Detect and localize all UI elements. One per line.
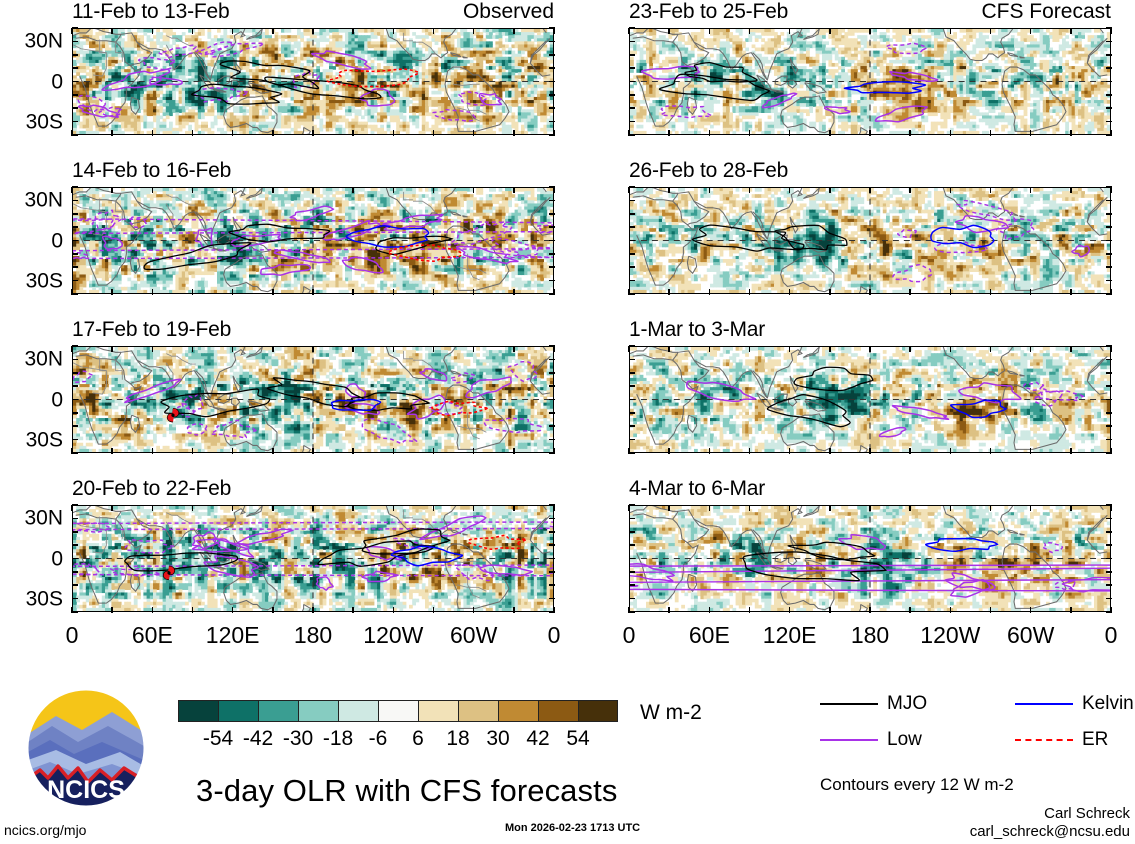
axis-tick	[473, 346, 475, 352]
axis-tick	[829, 505, 831, 511]
axis-tick	[1106, 558, 1112, 560]
axis-tick	[1106, 399, 1112, 401]
axis-tick	[549, 611, 555, 613]
axis-tick	[72, 200, 78, 202]
axis-tick	[352, 28, 354, 34]
axis-tick	[1070, 289, 1072, 295]
axis-tick	[990, 289, 992, 295]
colorbar-segment	[258, 700, 298, 722]
y-axis-label: 30S	[26, 588, 63, 609]
axis-tick	[629, 399, 635, 401]
axis-tick	[152, 130, 154, 136]
axis-tick	[1106, 240, 1112, 242]
colorbar-segment	[378, 700, 418, 722]
axis-tick	[629, 544, 635, 546]
axis-tick	[549, 27, 555, 29]
axis-tick	[352, 448, 354, 454]
axis-tick	[668, 607, 670, 613]
map-panel-forecast-2: 26-Feb to 28-Feb	[629, 187, 1111, 294]
axis-tick	[668, 505, 670, 511]
axis-tick	[312, 607, 314, 613]
axis-tick	[629, 452, 635, 454]
axis-tick	[352, 130, 354, 136]
axis-tick	[111, 289, 113, 295]
axis-tick	[393, 505, 395, 511]
axis-tick	[549, 359, 555, 361]
axis-tick	[1070, 448, 1072, 454]
axis-tick	[629, 94, 635, 96]
axis-tick	[549, 107, 555, 109]
axis-tick	[629, 372, 635, 374]
axis-tick	[72, 504, 78, 506]
axis-tick	[549, 280, 555, 282]
axis-tick	[789, 346, 791, 352]
axis-tick	[111, 130, 113, 136]
axis-tick	[709, 448, 711, 454]
ncics-logo: NCICS	[16, 686, 156, 819]
axis-tick	[549, 266, 555, 268]
axis-tick	[232, 505, 234, 511]
axis-tick	[1106, 107, 1112, 109]
axis-tick	[1106, 253, 1112, 255]
axis-tick	[152, 505, 154, 511]
axis-tick	[950, 289, 952, 295]
axis-tick	[192, 607, 194, 613]
timestamp-text: Mon 2026-02-23 1713 UTC	[505, 823, 640, 834]
axis-tick	[549, 385, 555, 387]
axis-tick	[709, 187, 711, 193]
axis-tick	[192, 289, 194, 295]
axis-tick	[629, 107, 635, 109]
axis-tick	[513, 289, 515, 295]
colorbar-tick-label: 42	[526, 728, 549, 749]
x-axis-label: 120E	[763, 624, 817, 647]
axis-tick	[72, 412, 78, 414]
axis-tick	[789, 289, 791, 295]
axis-tick	[1106, 385, 1112, 387]
axis-tick	[909, 187, 911, 193]
axis-tick	[473, 448, 475, 454]
axis-tick	[990, 130, 992, 136]
axis-tick	[232, 130, 234, 136]
axis-tick	[352, 289, 354, 295]
map-image	[629, 28, 1111, 135]
axis-tick	[1070, 28, 1072, 34]
axis-tick	[72, 558, 78, 560]
axis-tick	[473, 130, 475, 136]
map-image	[72, 28, 554, 135]
axis-tick	[629, 439, 635, 441]
axis-tick	[629, 584, 635, 586]
axis-tick	[513, 187, 515, 193]
axis-tick	[1030, 607, 1032, 613]
x-axis-label: 180	[851, 624, 889, 647]
axis-tick	[393, 28, 395, 34]
axis-tick	[1106, 226, 1112, 228]
axis-tick	[869, 448, 871, 454]
axis-tick	[549, 345, 555, 347]
colorbar-tick-label: -54	[203, 728, 233, 749]
axis-tick	[549, 584, 555, 586]
contour-legend: MJOKelvin x2LowER	[820, 694, 1135, 766]
axis-tick	[950, 187, 952, 193]
x-axis-labels-observed: 060E120E180120W60W0	[72, 624, 554, 650]
axis-tick	[513, 346, 515, 352]
legend-item-er: ER	[1015, 730, 1108, 749]
ncics-logo-text: NCICS	[47, 776, 125, 804]
x-axis-label: 60W	[1007, 624, 1054, 647]
axis-tick	[1106, 412, 1112, 414]
axis-tick	[709, 607, 711, 613]
axis-tick	[549, 558, 555, 560]
y-axis-label: 30S	[26, 111, 63, 132]
axis-tick	[1106, 266, 1112, 268]
y-axis-label: 30S	[26, 270, 63, 291]
axis-tick	[1106, 571, 1112, 573]
x-axis-label: 60W	[450, 624, 497, 647]
colorbar-segment	[338, 700, 378, 722]
legend-item-mjo: MJO	[820, 694, 927, 713]
axis-tick	[1070, 505, 1072, 511]
axis-tick	[909, 346, 911, 352]
axis-tick	[629, 280, 635, 282]
axis-tick	[990, 346, 992, 352]
axis-tick	[1106, 200, 1112, 202]
legend-label: ER	[1082, 730, 1108, 749]
axis-tick	[869, 28, 871, 34]
axis-tick	[789, 187, 791, 193]
panel-title: 1-Mar to 3-Mar	[629, 319, 765, 340]
axis-tick	[629, 611, 635, 613]
map-panel-forecast-3: 1-Mar to 3-Mar	[629, 346, 1111, 453]
axis-tick	[749, 130, 751, 136]
axis-tick	[549, 598, 555, 600]
axis-tick	[192, 505, 194, 511]
axis-tick	[1070, 607, 1072, 613]
axis-tick	[789, 130, 791, 136]
legend-line-swatch	[1015, 739, 1073, 741]
axis-tick	[990, 448, 992, 454]
axis-tick	[869, 346, 871, 352]
legend-line-swatch	[820, 703, 878, 705]
axis-tick	[990, 28, 992, 34]
axis-tick	[473, 28, 475, 34]
axis-tick	[72, 531, 78, 533]
axis-tick	[909, 130, 911, 136]
axis-tick	[629, 266, 635, 268]
axis-tick	[1106, 293, 1112, 295]
axis-tick	[393, 448, 395, 454]
panel-title: 26-Feb to 28-Feb	[629, 160, 788, 181]
axis-tick	[629, 359, 635, 361]
axis-tick	[232, 187, 234, 193]
axis-tick	[72, 584, 78, 586]
axis-tick	[192, 346, 194, 352]
axis-tick	[111, 448, 113, 454]
axis-tick	[1106, 531, 1112, 533]
axis-tick	[232, 28, 234, 34]
axis-tick	[629, 213, 635, 215]
axis-tick	[72, 452, 78, 454]
y-axis-label: 30S	[26, 429, 63, 450]
axis-tick	[1030, 187, 1032, 193]
axis-tick	[829, 448, 831, 454]
axis-tick	[829, 289, 831, 295]
axis-tick	[1106, 425, 1112, 427]
colorbar-tick-label: -6	[369, 728, 388, 749]
axis-tick	[272, 607, 274, 613]
panel-title: 4-Mar to 6-Mar	[629, 478, 765, 499]
axis-tick	[709, 289, 711, 295]
axis-tick	[312, 346, 314, 352]
x-axis-label: 60E	[689, 624, 730, 647]
axis-tick	[1106, 81, 1112, 83]
axis-tick	[1106, 54, 1112, 56]
axis-tick	[72, 67, 78, 69]
axis-tick	[629, 412, 635, 414]
axis-tick	[232, 289, 234, 295]
map-panel-forecast-4: 4-Mar to 6-Mar	[629, 505, 1111, 612]
axis-tick	[111, 607, 113, 613]
axis-tick	[549, 121, 555, 123]
axis-tick	[869, 130, 871, 136]
axis-tick	[473, 187, 475, 193]
axis-tick	[549, 81, 555, 83]
axis-tick	[72, 372, 78, 374]
axis-tick	[433, 187, 435, 193]
axis-tick	[629, 293, 635, 295]
axis-tick	[1106, 186, 1112, 188]
axis-tick	[629, 121, 635, 123]
axis-tick	[1030, 130, 1032, 136]
axis-tick	[1106, 27, 1112, 29]
axis-tick	[1106, 611, 1112, 613]
axis-tick	[549, 439, 555, 441]
map-panel-observed-3: 17-Feb to 19-Feb30N030S	[72, 346, 554, 453]
axis-tick	[473, 289, 475, 295]
axis-tick	[950, 505, 952, 511]
axis-tick	[513, 607, 515, 613]
axis-tick	[1106, 452, 1112, 454]
panel-title: 14-Feb to 16-Feb	[72, 160, 231, 181]
axis-tick	[990, 187, 992, 193]
colorbar-tick-label: 54	[566, 728, 589, 749]
axis-tick	[1106, 504, 1112, 506]
map-panel-observed-2: 14-Feb to 16-Feb30N030S	[72, 187, 554, 294]
colorbar-tick-label: 30	[486, 728, 509, 749]
y-axis-label: 0	[51, 71, 63, 92]
axis-tick	[950, 28, 952, 34]
axis-tick	[549, 213, 555, 215]
axis-tick	[72, 27, 78, 29]
axis-tick	[549, 412, 555, 414]
axis-tick	[549, 425, 555, 427]
author-name: Carl Schreck	[905, 806, 1130, 821]
axis-tick	[549, 41, 555, 43]
axis-tick	[629, 345, 635, 347]
panel-title: 20-Feb to 22-Feb	[72, 478, 231, 499]
axis-tick	[629, 27, 635, 29]
axis-tick	[829, 607, 831, 613]
axis-tick	[393, 187, 395, 193]
axis-tick	[629, 558, 635, 560]
axis-tick	[789, 607, 791, 613]
axis-tick	[629, 385, 635, 387]
x-axis-label: 0	[1105, 624, 1118, 647]
axis-tick	[869, 187, 871, 193]
x-axis-label: 60E	[132, 624, 173, 647]
axis-tick	[72, 41, 78, 43]
axis-tick	[629, 226, 635, 228]
axis-tick	[473, 607, 475, 613]
colorbar-tick-label: -42	[243, 728, 273, 749]
axis-tick	[111, 346, 113, 352]
axis-tick	[111, 28, 113, 34]
column-header-observed: Observed	[463, 1, 554, 22]
x-axis-label: 120W	[920, 624, 980, 647]
axis-tick	[629, 41, 635, 43]
axis-tick	[950, 607, 952, 613]
colorbar-segment	[178, 700, 218, 722]
map-image	[72, 187, 554, 294]
y-axis-label: 0	[51, 548, 63, 569]
colorbar-tick-label: 6	[412, 728, 424, 749]
colorbar-segment	[578, 700, 618, 722]
colorbar-segment	[298, 700, 338, 722]
axis-tick	[272, 448, 274, 454]
axis-tick	[72, 518, 78, 520]
axis-tick	[1106, 359, 1112, 361]
axis-tick	[232, 346, 234, 352]
axis-tick	[1106, 518, 1112, 520]
axis-tick	[950, 448, 952, 454]
axis-tick	[629, 200, 635, 202]
y-axis-label: 30N	[24, 190, 63, 211]
axis-tick	[232, 448, 234, 454]
axis-tick	[473, 505, 475, 511]
axis-tick	[72, 598, 78, 600]
axis-tick	[352, 607, 354, 613]
axis-tick	[1106, 41, 1112, 43]
axis-tick	[72, 399, 78, 401]
column-header-forecast: CFS Forecast	[981, 1, 1111, 22]
axis-tick	[909, 289, 911, 295]
x-axis-label: 0	[548, 624, 561, 647]
axis-tick	[72, 186, 78, 188]
x-axis-label: 120W	[363, 624, 423, 647]
author-email: carl_schreck@ncsu.edu	[905, 824, 1130, 839]
axis-tick	[549, 372, 555, 374]
axis-tick	[272, 289, 274, 295]
colorbar-tick-label: 18	[446, 728, 469, 749]
axis-tick	[312, 448, 314, 454]
axis-tick	[152, 346, 154, 352]
axis-tick	[549, 399, 555, 401]
axis-tick	[192, 28, 194, 34]
axis-tick	[1106, 598, 1112, 600]
axis-tick	[192, 130, 194, 136]
axis-tick	[72, 611, 78, 613]
axis-tick	[1070, 130, 1072, 136]
axis-tick	[549, 253, 555, 255]
axis-tick	[709, 505, 711, 511]
axis-tick	[72, 253, 78, 255]
axis-tick	[393, 607, 395, 613]
axis-tick	[72, 385, 78, 387]
axis-tick	[433, 607, 435, 613]
x-axis-label: 0	[66, 624, 79, 647]
axis-tick	[950, 346, 952, 352]
axis-tick	[950, 130, 952, 136]
colorbar-segment	[458, 700, 498, 722]
legend-label: Kelvin x2	[1082, 694, 1135, 713]
axis-tick	[668, 130, 670, 136]
axis-tick	[272, 130, 274, 136]
axis-tick	[668, 187, 670, 193]
axis-tick	[629, 504, 635, 506]
axis-tick	[549, 226, 555, 228]
map-panel-observed-4: 20-Feb to 22-Feb30N030S	[72, 505, 554, 612]
axis-tick	[433, 289, 435, 295]
axis-tick	[668, 28, 670, 34]
axis-tick	[393, 346, 395, 352]
axis-tick	[513, 130, 515, 136]
x-axis-labels-forecast: 060E120E180120W60W0	[629, 624, 1111, 650]
axis-tick	[629, 186, 635, 188]
axis-tick	[513, 505, 515, 511]
legend-line-swatch	[820, 739, 878, 741]
axis-tick	[1106, 280, 1112, 282]
axis-tick	[312, 28, 314, 34]
axis-tick	[549, 531, 555, 533]
axis-tick	[72, 544, 78, 546]
axis-tick	[990, 607, 992, 613]
axis-tick	[72, 345, 78, 347]
axis-tick	[312, 187, 314, 193]
legend-label: MJO	[887, 694, 927, 713]
axis-tick	[1106, 121, 1112, 123]
axis-tick	[111, 187, 113, 193]
axis-tick	[1106, 134, 1112, 136]
axis-tick	[192, 448, 194, 454]
axis-tick	[1030, 289, 1032, 295]
legend-label: Low	[887, 730, 922, 749]
axis-tick	[352, 346, 354, 352]
axis-tick	[629, 81, 635, 83]
x-axis-label: 120E	[206, 624, 260, 647]
axis-tick	[909, 505, 911, 511]
axis-tick	[152, 607, 154, 613]
axis-tick	[1106, 544, 1112, 546]
axis-tick	[72, 213, 78, 215]
axis-tick	[709, 346, 711, 352]
axis-tick	[393, 130, 395, 136]
axis-tick	[749, 346, 751, 352]
axis-tick	[272, 187, 274, 193]
colorbar-segment	[538, 700, 578, 722]
axis-tick	[1106, 372, 1112, 374]
axis-tick	[789, 505, 791, 511]
panel-title: 23-Feb to 25-Feb	[629, 1, 788, 22]
axis-tick	[629, 54, 635, 56]
axis-tick	[72, 134, 78, 136]
axis-tick	[629, 531, 635, 533]
axis-tick	[72, 107, 78, 109]
axis-tick	[72, 293, 78, 295]
colorbar-segment	[218, 700, 258, 722]
axis-tick	[549, 452, 555, 454]
axis-tick	[272, 346, 274, 352]
